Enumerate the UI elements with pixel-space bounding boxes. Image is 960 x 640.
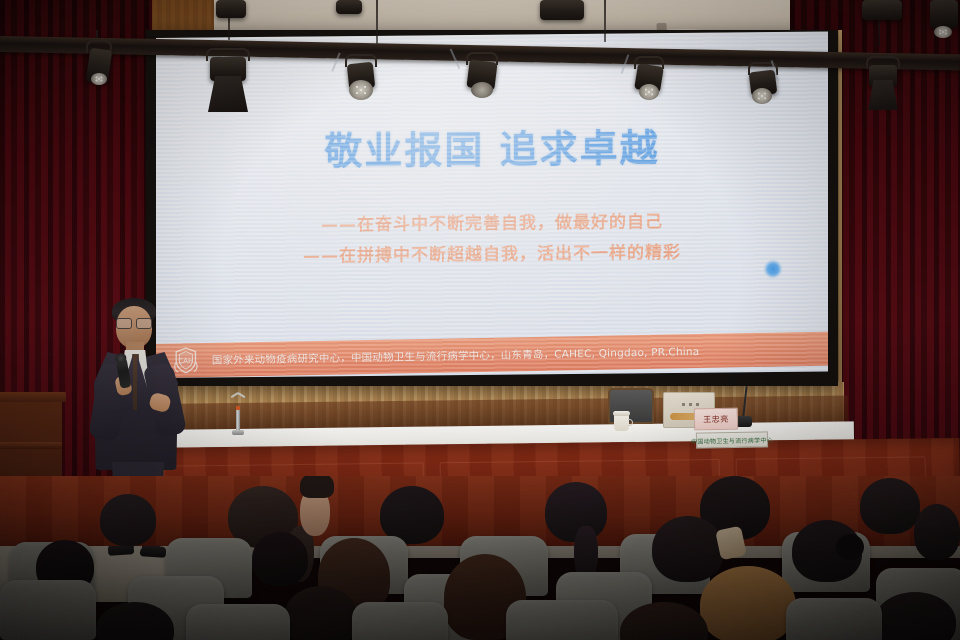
spotlight-lens — [91, 73, 107, 85]
spotlight-lens — [934, 26, 952, 38]
tea-cup-icon — [614, 410, 631, 432]
seat — [506, 600, 618, 640]
hair-accessory-icon — [836, 534, 864, 560]
seat — [352, 602, 448, 640]
spotlight-fixture — [86, 40, 112, 86]
tea-cup-body — [614, 414, 629, 431]
spotlight-fixture — [866, 56, 900, 112]
laser-pointer-dot-icon — [764, 260, 782, 278]
organization-plate: 中国动物卫生与流行病学中心 — [696, 431, 768, 448]
laptop-detail — [682, 403, 700, 406]
eyeglasses-icon — [116, 318, 152, 327]
truss-cable — [376, 0, 378, 44]
tea-cup-lid — [613, 411, 630, 416]
spotlight-body — [216, 0, 246, 18]
slide-subtitle-line-2: ——在拼搏中不断超越自我，活出不一样的精彩 — [156, 237, 828, 268]
auditorium-presentation-photo: 敬业报国 追求卓越 ——在奋斗中不断完善自我，做最好的自己 ——在拼搏中不断超越… — [0, 0, 960, 640]
ceiling-spotlight-fixture — [862, 0, 902, 22]
slide-title: 敬业报国 追求卓越 — [156, 116, 828, 177]
spotlight-fixture — [634, 56, 664, 104]
audience-hair — [300, 476, 334, 498]
ceiling-spotlight-fixture — [336, 0, 362, 16]
microphone-stand-icon — [232, 392, 244, 434]
audience-head — [860, 478, 920, 534]
slide-subtitle-line-1: ——在奋斗中不断完善自我，做最好的自己 — [156, 206, 828, 237]
audience-head — [700, 566, 796, 640]
audience-head — [100, 494, 156, 546]
seat — [786, 598, 882, 640]
audience-head — [914, 504, 960, 560]
microphone-base — [232, 430, 244, 435]
ceiling-spotlight-fixture — [216, 0, 246, 20]
ceiling-spotlight-fixture — [540, 0, 584, 22]
podium-top — [0, 392, 66, 402]
spotlight-lens — [752, 88, 772, 104]
spotlight-body — [930, 0, 958, 28]
gooseneck-arm — [742, 386, 748, 420]
spotlight-lens — [349, 80, 373, 100]
audience-head — [284, 586, 358, 640]
spotlight-lens — [471, 82, 493, 98]
microphone-led-indicator — [236, 406, 240, 410]
seat — [186, 604, 290, 640]
seat — [0, 580, 96, 640]
spotlight-fixture — [345, 54, 377, 102]
spotlight-body — [862, 0, 902, 20]
spotlight-body — [540, 0, 584, 20]
audience-head — [252, 532, 308, 586]
spotlight-fixture — [466, 52, 498, 102]
spotlight-body — [336, 0, 362, 14]
podium-ledge — [0, 442, 62, 449]
slide-footer-bar: CAH 国家外来动物疫病研究中心，中国动物卫生与流行病学中心，山东青岛，CAHE… — [156, 331, 828, 378]
spotlight-fixture — [206, 48, 250, 114]
spotlight-barn-doors — [208, 76, 248, 112]
organization-plate-text: 中国动物卫生与流行病学中心 — [691, 435, 773, 445]
seated-audience-rear-view — [0, 476, 960, 640]
spotlight-fixture — [748, 62, 778, 108]
slide-footer-text: 国家外来动物疫病研究中心，中国动物卫生与流行病学中心，山东青岛，CAHEC, Q… — [212, 343, 700, 367]
name-plate: 王忠亮 — [694, 408, 738, 431]
name-plate-text: 王忠亮 — [703, 413, 729, 424]
truss-cable — [604, 0, 606, 42]
ceiling-spotlight-fixture — [930, 0, 960, 40]
spotlight-lens — [639, 84, 659, 100]
audience-head — [652, 516, 724, 582]
